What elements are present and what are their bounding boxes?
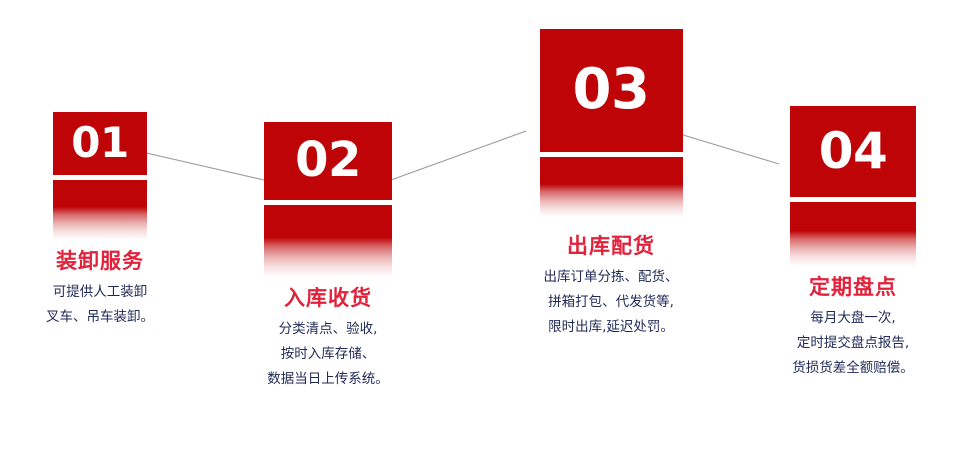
step-number-2: 02 — [295, 136, 361, 184]
step-description-4: 每月大盘一次, 定时提交盘点报告, 货损货差全额赔偿。 — [760, 306, 946, 381]
step-description-line: 分类清点、验收, — [238, 317, 418, 342]
badge-reflection-3 — [540, 157, 683, 217]
step-description-line: 每月大盘一次, — [760, 306, 946, 331]
step-description-line: 数据当日上传系统。 — [238, 367, 418, 392]
step-number-badge-2: 02 — [264, 122, 392, 200]
step-description-1: 可提供人工装卸 叉车、吊车装卸。 — [10, 280, 190, 330]
step-description-3: 出库订单分拣、配货、 拼箱打包、代发货等, 限时出库,延迟处罚。 — [508, 265, 714, 340]
badge-reflection-4 — [790, 202, 916, 266]
step-number-3: 03 — [573, 62, 650, 118]
step-description-2: 分类清点、验收, 按时入库存储、 数据当日上传系统。 — [238, 317, 418, 392]
step-description-line: 限时出库,延迟处罚。 — [508, 315, 714, 340]
step-number-1: 01 — [71, 122, 128, 164]
step-title-3: 出库配货 — [508, 233, 714, 259]
step-description-line: 拼箱打包、代发货等, — [508, 290, 714, 315]
process-step-2[interactable]: 02 入库收货 分类清点、验收, 按时入库存储、 数据当日上传系统。 — [238, 122, 418, 392]
step-caption-3: 出库配货 出库订单分拣、配货、 拼箱打包、代发货等, 限时出库,延迟处罚。 — [508, 231, 714, 340]
step-title-4: 定期盘点 — [760, 274, 946, 300]
process-step-3[interactable]: 03 出库配货 出库订单分拣、配货、 拼箱打包、代发货等, 限时出库,延迟处罚。 — [508, 29, 714, 340]
step-number-badge-4: 04 — [790, 106, 916, 197]
infographic-canvas: 01 装卸服务 可提供人工装卸 叉车、吊车装卸。 02 入库收货 分类清点、验收… — [0, 0, 955, 450]
step-description-line: 可提供人工装卸 — [10, 280, 190, 305]
step-title-1: 装卸服务 — [10, 248, 190, 274]
step-caption-4: 定期盘点 每月大盘一次, 定时提交盘点报告, 货损货差全额赔偿。 — [760, 272, 946, 381]
step-description-line: 定时提交盘点报告, — [760, 331, 946, 356]
badge-reflection-1 — [53, 180, 147, 240]
step-caption-1: 装卸服务 可提供人工装卸 叉车、吊车装卸。 — [10, 246, 190, 330]
step-title-2: 入库收货 — [238, 285, 418, 311]
step-description-line: 按时入库存储、 — [238, 342, 418, 367]
step-description-line: 叉车、吊车装卸。 — [10, 305, 190, 330]
process-step-4[interactable]: 04 定期盘点 每月大盘一次, 定时提交盘点报告, 货损货差全额赔偿。 — [760, 106, 946, 381]
badge-reflection-2 — [264, 205, 392, 277]
step-description-line: 出库订单分拣、配货、 — [508, 265, 714, 290]
process-step-1[interactable]: 01 装卸服务 可提供人工装卸 叉车、吊车装卸。 — [10, 112, 190, 330]
step-description-line: 货损货差全额赔偿。 — [760, 356, 946, 381]
step-caption-2: 入库收货 分类清点、验收, 按时入库存储、 数据当日上传系统。 — [238, 283, 418, 392]
step-number-badge-3: 03 — [540, 29, 683, 152]
step-number-badge-1: 01 — [53, 112, 147, 175]
step-number-4: 04 — [819, 126, 888, 176]
